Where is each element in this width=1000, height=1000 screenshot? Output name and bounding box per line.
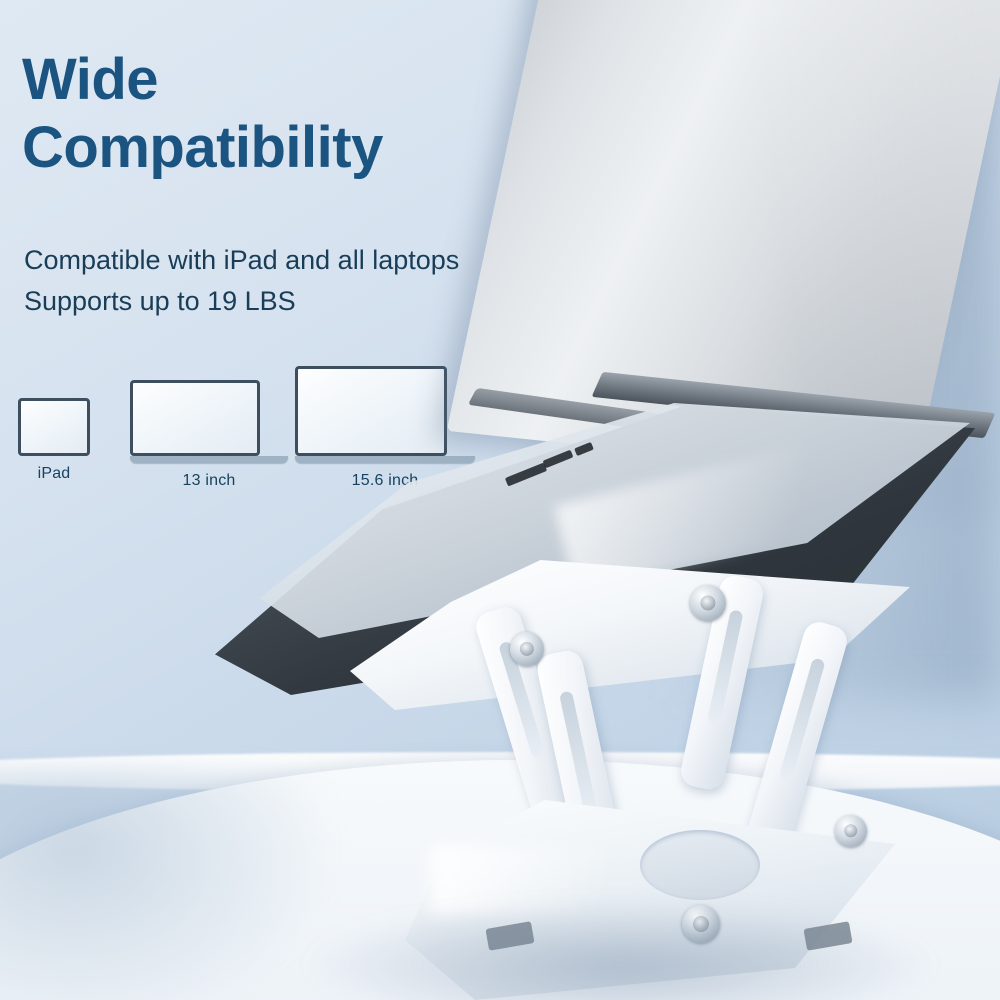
arm-slot — [559, 691, 599, 821]
device-label-13: 13 inch — [130, 472, 288, 490]
headline-line-2: Compatibility — [22, 114, 582, 182]
product-drop-shadow — [300, 900, 940, 1000]
stand-pivot-bolt — [510, 632, 544, 666]
tablet-icon — [18, 398, 90, 456]
page-title: Wide Compatibility — [22, 46, 582, 183]
device-ipad: iPad — [18, 398, 90, 483]
laptop-icon — [130, 380, 260, 456]
laptop-base-13 — [130, 456, 288, 463]
device-13-inch: 13 inch — [130, 380, 288, 490]
product-marketing-image: Wide Compatibility Compatible with iPad … — [0, 0, 1000, 1000]
table-shading — [0, 770, 340, 1000]
laptop-icon — [295, 366, 447, 456]
headline-line-1: Wide — [22, 47, 158, 112]
device-label-ipad: iPad — [18, 465, 90, 483]
stand-base-bolt — [835, 815, 867, 847]
laptop-base-156 — [295, 456, 475, 463]
arm-slot — [707, 609, 744, 724]
stand-pivot-bolt — [690, 585, 726, 621]
